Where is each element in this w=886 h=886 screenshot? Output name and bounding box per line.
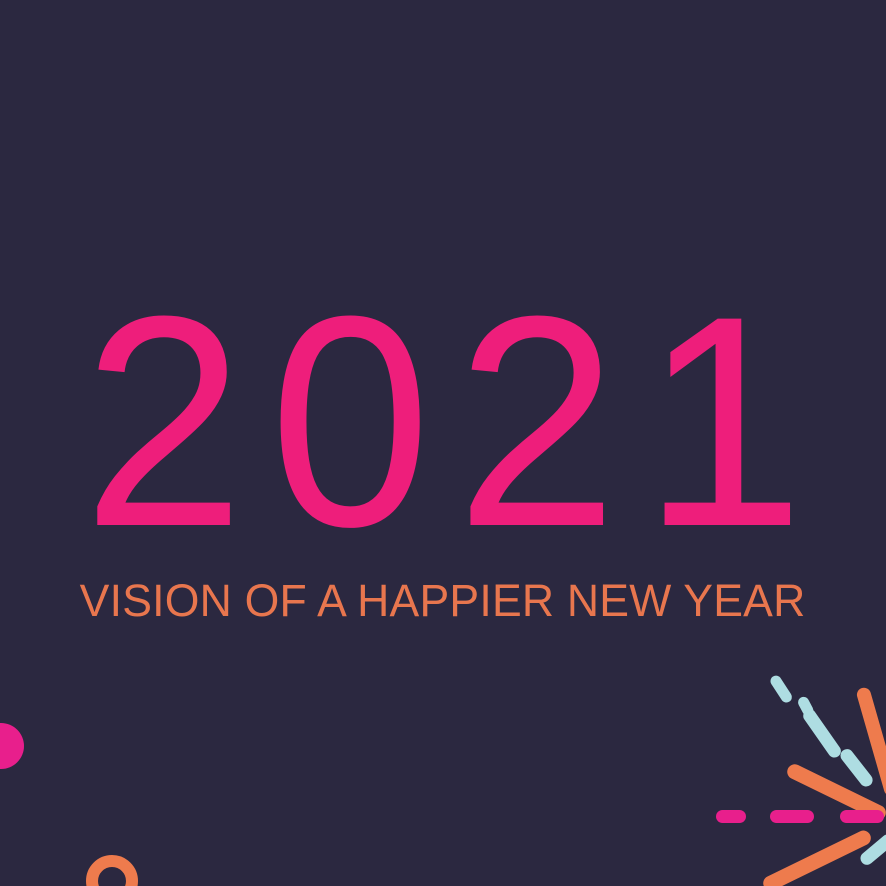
subtitle-text: VISION OF A HAPPIER NEW YEAR (80, 578, 806, 623)
subtitle-container: VISION OF A HAPPIER NEW YEAR (0, 572, 886, 628)
poster-background (0, 0, 886, 886)
new-year-poster: 2021 VISION OF A HAPPIER NEW YEAR (0, 0, 886, 886)
